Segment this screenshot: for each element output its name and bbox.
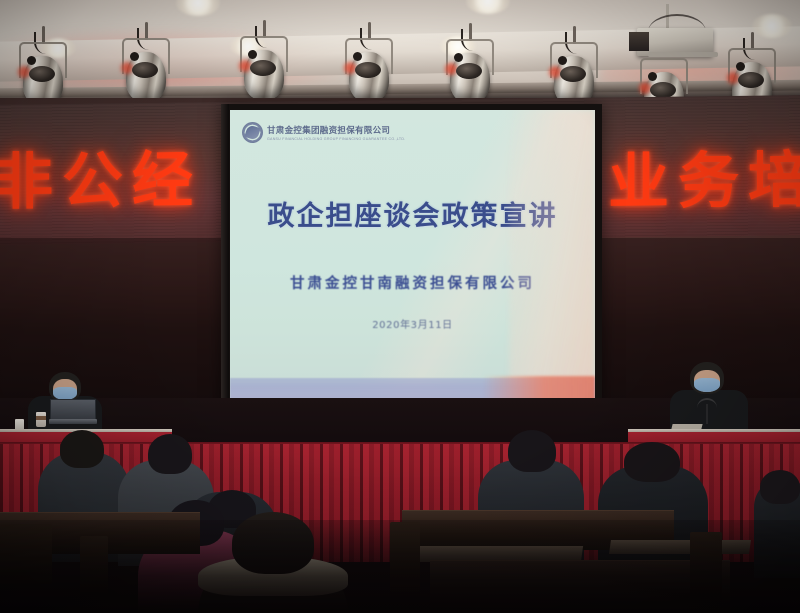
floor-shadow bbox=[0, 520, 800, 613]
light-knob bbox=[27, 56, 36, 65]
light-knob bbox=[130, 52, 139, 61]
light-knob bbox=[736, 62, 745, 71]
light-lens bbox=[738, 72, 764, 88]
light-lens bbox=[250, 60, 276, 76]
light-knob bbox=[558, 56, 567, 65]
led-banner-text-right: 业务培 bbox=[608, 145, 800, 220]
photograph-scene: 非公经 业务培 甘肃金控集团融资担保有限公司 GANSU FINANCIAL H… bbox=[0, 0, 800, 613]
stage-par-can-light bbox=[342, 32, 396, 104]
attendee-1-head bbox=[60, 430, 104, 468]
presenter-right-face-mask bbox=[694, 378, 720, 392]
light-lens bbox=[650, 82, 676, 98]
presenter-right bbox=[666, 362, 758, 432]
light-lens bbox=[29, 66, 55, 82]
attendee-2-head bbox=[148, 434, 192, 474]
light-lens bbox=[132, 62, 158, 78]
attendee-8-head bbox=[760, 470, 800, 504]
presenter-laptop-lid bbox=[50, 399, 96, 420]
screen-bottom-warm-glow bbox=[483, 376, 595, 400]
projector-lens bbox=[629, 32, 649, 51]
light-knob bbox=[648, 72, 657, 81]
table-microphone-stand bbox=[706, 404, 708, 424]
light-knob bbox=[353, 52, 362, 61]
slide-logo: 甘肃金控集团融资担保有限公司 GANSU FINANCIAL HOLDING G… bbox=[242, 122, 405, 143]
recessed-downlight bbox=[752, 14, 792, 38]
projection-screen-frame: 甘肃金控集团融资担保有限公司 GANSU FINANCIAL HOLDING G… bbox=[221, 104, 602, 412]
logo-company-name-en: GANSU FINANCIAL HOLDING GROUP FINANCING … bbox=[267, 137, 405, 141]
led-banner-text-left: 非公经 bbox=[0, 145, 202, 220]
light-lens bbox=[456, 63, 482, 79]
light-lens bbox=[560, 66, 586, 82]
screen-glare bbox=[509, 110, 595, 400]
recessed-downlight bbox=[176, 0, 220, 16]
attendee-6-head bbox=[508, 430, 556, 472]
presenter-laptop-base bbox=[49, 419, 97, 424]
light-knob bbox=[248, 50, 257, 59]
light-lens bbox=[355, 62, 381, 78]
stage-par-can-light bbox=[237, 30, 291, 102]
coffee-cup bbox=[36, 412, 46, 427]
light-knob bbox=[454, 53, 463, 62]
recessed-downlight bbox=[466, 0, 510, 14]
stage-par-can-light bbox=[443, 33, 497, 105]
attendee-7-head bbox=[624, 442, 680, 482]
stage-par-can-light bbox=[119, 32, 173, 104]
logo-company-name-cn: 甘肃金控集团融资担保有限公司 bbox=[267, 124, 405, 136]
projection-screen-surface: 甘肃金控集团融资担保有限公司 GANSU FINANCIAL HOLDING G… bbox=[230, 110, 595, 400]
gansu-jinkong-logo-icon bbox=[242, 122, 263, 143]
